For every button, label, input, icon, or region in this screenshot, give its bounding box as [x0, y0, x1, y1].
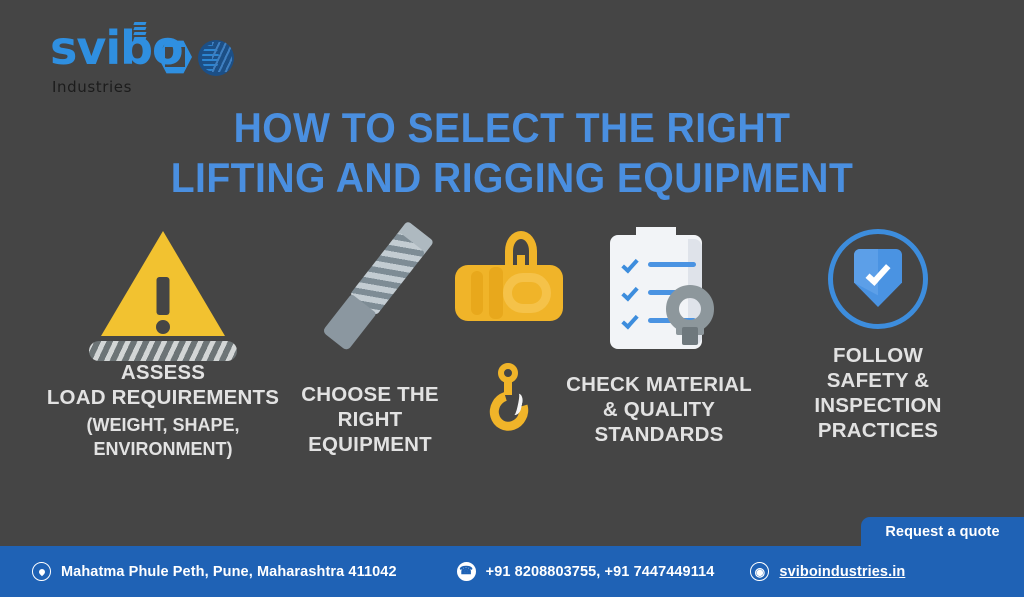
check-icon	[621, 256, 638, 274]
eye-bolt-icon	[666, 285, 720, 347]
address-text: Mahatma Phule Peth, Pune, Maharashtra 41…	[61, 564, 397, 580]
hoist-stripe-2	[489, 267, 503, 319]
check-icon	[621, 312, 638, 330]
step5-caption-line-4: PRACTICES	[780, 418, 976, 443]
logo-grinding-disc-icon	[198, 40, 234, 76]
exclamation-dot	[156, 320, 170, 334]
step4-caption-line-2: & QUALITY	[548, 397, 770, 422]
drill-bit-icon	[280, 225, 460, 360]
hoist-trolley-icon	[455, 231, 563, 335]
step1-sub-line-1: (WEIGHT, SHAPE,	[18, 413, 308, 437]
checklist-row-1	[622, 257, 694, 279]
step5-caption-line-1: FOLLOW	[780, 343, 976, 368]
exclamation-bar	[157, 277, 170, 315]
phone-icon: ☎	[457, 562, 476, 581]
warning-triangle-rope-icon	[18, 225, 308, 360]
location-pin-icon	[32, 562, 51, 581]
request-a-quote-button[interactable]: Request a quote	[861, 517, 1024, 546]
steps-row: ASSESS LOAD REQUIREMENTS (WEIGHT, SHAPE,…	[0, 225, 1024, 515]
step2-caption-line-1: CHOOSE THE	[280, 382, 460, 407]
crane-hook-icon	[484, 363, 534, 437]
checklist-clipboard-eyebolt-icon	[548, 225, 770, 360]
title-line-1: HOW TO SELECT THE RIGHT	[234, 104, 791, 151]
page-title: HOW TO SELECT THE RIGHT LIFTING AND RIGG…	[36, 103, 988, 203]
step-follow-safety-inspection: FOLLOW SAFETY & INSPECTION PRACTICES	[780, 225, 976, 443]
step1-caption-line-1: ASSESS	[18, 360, 308, 385]
step1-caption-line-2: LOAD REQUIREMENTS	[18, 385, 308, 410]
step2-caption-line-3: EQUIPMENT	[280, 432, 460, 457]
checklist-line	[648, 262, 696, 267]
shield-badge	[828, 229, 928, 329]
check-icon	[621, 284, 638, 302]
step5-caption-line-2: SAFETY &	[780, 368, 976, 393]
website-text: sviboindustries.in	[779, 564, 905, 580]
step-choose-right-equipment: CHOOSE THE RIGHT EQUIPMENT	[280, 225, 460, 457]
step-check-material-quality: CHECK MATERIAL & QUALITY STANDARDS	[548, 225, 770, 447]
step5-caption-line-3: INSPECTION	[780, 393, 976, 418]
step2-caption-line-2: RIGHT	[280, 407, 460, 432]
footer-phone[interactable]: ☎ +91 8208803755, +91 7447449114	[457, 562, 715, 581]
globe-icon: ◉	[750, 562, 769, 581]
rope-sling-icon	[89, 341, 237, 361]
shield-check-icon	[780, 225, 976, 343]
step4-caption-line-1: CHECK MATERIAL	[548, 372, 770, 397]
logo-mark: svibo	[50, 24, 250, 76]
step1-sub-line-2: ENVIRONMENT)	[18, 437, 308, 461]
clipboard-tab	[636, 227, 676, 243]
step4-caption-line-3: STANDARDS	[548, 422, 770, 447]
contact-footer-bar: Mahatma Phule Peth, Pune, Maharashtra 41…	[0, 546, 1024, 597]
logo-bolt-icon	[132, 22, 148, 42]
phone-text: +91 8208803755, +91 7447449114	[486, 564, 715, 580]
drill-bit-shape	[322, 232, 425, 351]
step-assess-load-requirements: ASSESS LOAD REQUIREMENTS (WEIGHT, SHAPE,…	[18, 225, 308, 461]
clipboard-icon	[610, 227, 708, 349]
footer-website[interactable]: ◉ sviboindustries.in	[750, 562, 905, 581]
footer-address: Mahatma Phule Peth, Pune, Maharashtra 41…	[32, 562, 397, 581]
hoist-eye	[503, 273, 551, 313]
eye-bolt-shaft	[682, 327, 698, 345]
logo-subtitle: Industries	[52, 78, 132, 96]
title-line-2: LIFTING AND RIGGING EQUIPMENT	[36, 153, 988, 203]
hoist-stripe-1	[471, 271, 483, 315]
